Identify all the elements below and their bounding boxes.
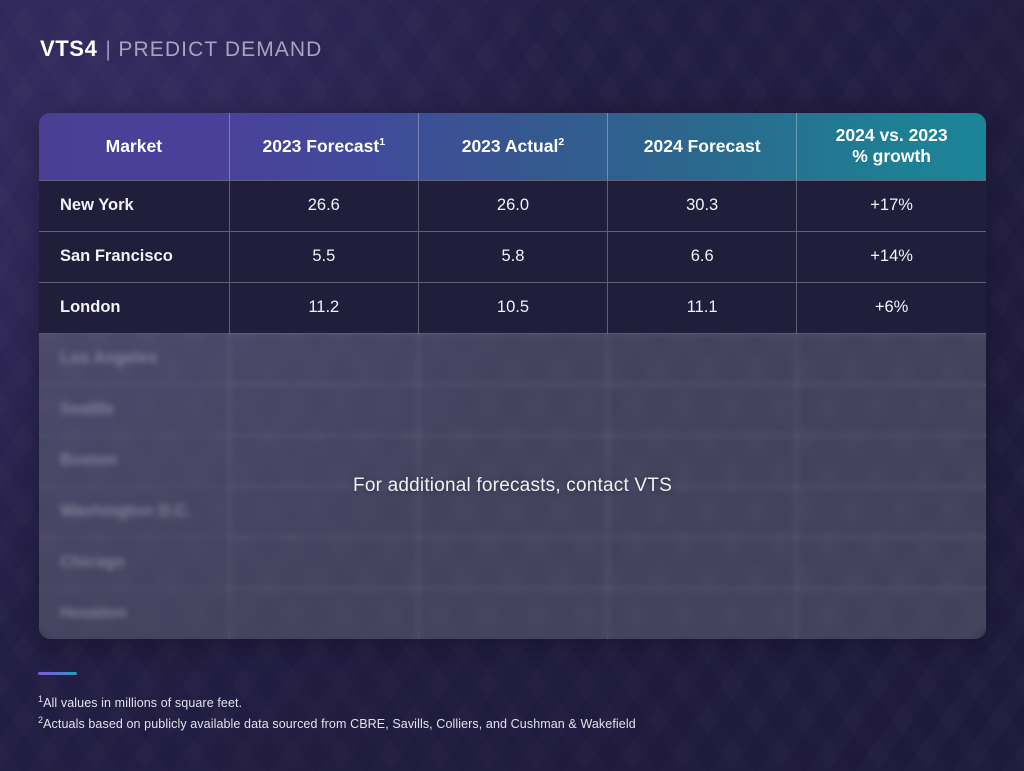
cell-forecast-2024: 30.3 — [608, 180, 797, 231]
column-header-forecast-2024-label: 2024 Forecast — [644, 136, 761, 156]
column-header-actual-2023: 2023 Actual2 — [418, 113, 607, 180]
cell-locked — [418, 384, 607, 435]
column-header-growth-label-line2: % growth — [852, 146, 931, 166]
table-row-locked: Boston — [39, 435, 986, 486]
cell-growth: +6% — [797, 282, 986, 333]
column-header-forecast-2024: 2024 Forecast — [608, 113, 797, 180]
cell-market-locked: Los Angeles — [39, 333, 229, 384]
table-row: London 11.2 10.5 11.1 +6% — [39, 282, 986, 333]
divider-rule — [38, 672, 77, 675]
footnote-1: 1All values in millions of square feet. — [38, 692, 636, 713]
cell-locked — [608, 588, 797, 639]
cell-locked — [608, 486, 797, 537]
table-row: San Francisco 5.5 5.8 6.6 +14% — [39, 231, 986, 282]
cell-growth: +17% — [797, 180, 986, 231]
cell-locked — [229, 384, 418, 435]
cell-locked — [797, 588, 986, 639]
cell-locked — [229, 537, 418, 588]
table-header-row: Market 2023 Forecast1 2023 Actual2 2024 … — [39, 113, 986, 180]
cell-market: New York — [39, 180, 229, 231]
title-separator: | — [105, 38, 111, 62]
table-body: New York 26.6 26.0 30.3 +17% San Francis… — [39, 180, 986, 639]
table-header: Market 2023 Forecast1 2023 Actual2 2024 … — [39, 113, 986, 180]
cell-forecast-2023: 5.5 — [229, 231, 418, 282]
cell-forecast-2024: 6.6 — [608, 231, 797, 282]
cell-locked — [797, 384, 986, 435]
cell-locked — [797, 486, 986, 537]
cell-forecast-2023: 11.2 — [229, 282, 418, 333]
cell-locked — [608, 333, 797, 384]
cell-locked — [229, 588, 418, 639]
cell-market-locked: Seattle — [39, 384, 229, 435]
page-subtitle: PREDICT DEMAND — [118, 38, 322, 62]
forecast-table: Market 2023 Forecast1 2023 Actual2 2024 … — [39, 113, 986, 639]
cell-market: London — [39, 282, 229, 333]
cell-locked — [797, 333, 986, 384]
column-header-growth: 2024 vs. 2023 % growth — [797, 113, 986, 180]
table-row-locked: Houston — [39, 588, 986, 639]
footnote-marker-1: 1 — [379, 136, 385, 148]
table-row-locked: Chicago — [39, 537, 986, 588]
column-header-actual-2023-label: 2023 Actual — [462, 136, 559, 156]
cell-locked — [418, 588, 607, 639]
cell-actual-2023: 26.0 — [418, 180, 607, 231]
table-row-locked: Los Angeles — [39, 333, 986, 384]
cell-locked — [418, 537, 607, 588]
cell-forecast-2023: 26.6 — [229, 180, 418, 231]
cell-locked — [418, 435, 607, 486]
cell-market: San Francisco — [39, 231, 229, 282]
table-row: New York 26.6 26.0 30.3 +17% — [39, 180, 986, 231]
column-header-forecast-2023-label: 2023 Forecast — [262, 136, 379, 156]
column-header-market: Market — [39, 113, 229, 180]
cell-locked — [608, 435, 797, 486]
footnote-marker-2: 2 — [558, 136, 564, 148]
cell-market-locked: Houston — [39, 588, 229, 639]
column-header-growth-label-line1: 2024 vs. 2023 — [836, 125, 948, 145]
cell-growth: +14% — [797, 231, 986, 282]
cell-forecast-2024: 11.1 — [608, 282, 797, 333]
cell-market-locked: Chicago — [39, 537, 229, 588]
footnote-1-text: All values in millions of square feet. — [43, 696, 242, 710]
footnote-2: 2Actuals based on publicly available dat… — [38, 713, 636, 734]
cell-locked — [229, 333, 418, 384]
cell-market-locked: Boston — [39, 435, 229, 486]
cell-locked — [797, 435, 986, 486]
cell-locked — [229, 486, 418, 537]
footnotes: 1All values in millions of square feet. … — [38, 672, 636, 735]
cell-locked — [797, 537, 986, 588]
cell-locked — [608, 537, 797, 588]
column-header-market-label: Market — [106, 136, 162, 156]
cell-actual-2023: 5.8 — [418, 231, 607, 282]
page-title: VTS4 | PREDICT DEMAND — [40, 36, 322, 62]
cell-actual-2023: 10.5 — [418, 282, 607, 333]
cell-market-locked: Washington D.C. — [39, 486, 229, 537]
cell-locked — [608, 384, 797, 435]
cell-locked — [418, 333, 607, 384]
table-row-locked: Washington D.C. — [39, 486, 986, 537]
column-header-forecast-2023: 2023 Forecast1 — [229, 113, 418, 180]
cell-locked — [229, 435, 418, 486]
table-row-locked: Seattle — [39, 384, 986, 435]
cell-locked — [418, 486, 607, 537]
footnote-2-text: Actuals based on publicly available data… — [43, 718, 636, 732]
brand-name: VTS4 — [40, 36, 97, 62]
forecast-table-container: Market 2023 Forecast1 2023 Actual2 2024 … — [39, 113, 986, 639]
